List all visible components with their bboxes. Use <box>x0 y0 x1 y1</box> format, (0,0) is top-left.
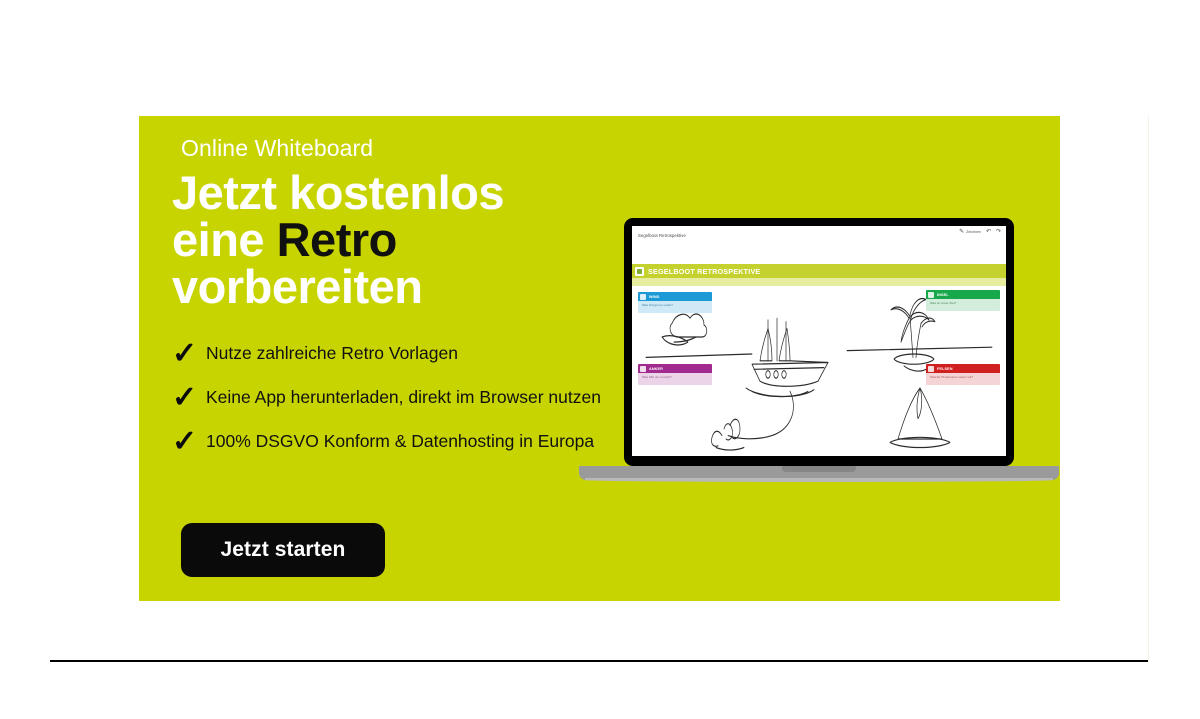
app-topbar: Segelboot Retrospektive ✎ Zeichnen ↶ ↷ <box>632 226 1006 244</box>
board-title: SEGELBOOT RETROSPEKTIVE <box>648 267 760 276</box>
hero-banner: Online Whiteboard Jetzt kostenlos eine R… <box>139 116 1060 601</box>
list-item: ✓ Keine App herunterladen, direkt im Bro… <box>172 383 632 411</box>
note-header: INSEL <box>926 290 1000 299</box>
note-card-wind[interactable]: WIND Was bringt uns voran? <box>638 292 712 313</box>
headline-line-2-emphasis: Retro <box>277 213 397 266</box>
anchor-icon <box>640 366 646 372</box>
laptop-screen: Segelboot Retrospektive ✎ Zeichnen ↶ ↷ <box>632 226 1006 456</box>
note-header: ANKER <box>638 364 712 373</box>
board-icon <box>635 267 644 276</box>
check-icon: ✓ <box>172 385 206 411</box>
content-bottom-rule <box>50 660 1148 662</box>
headline-line-2-prefix: eine <box>172 213 277 266</box>
note-title: FELSEN <box>937 367 953 371</box>
note-card-anchor[interactable]: ANKER Was hält uns zurück? <box>638 364 712 385</box>
island-icon <box>928 292 934 298</box>
hero-text-block: Online Whiteboard Jetzt kostenlos eine R… <box>172 135 642 310</box>
feature-text: 100% DSGVO Konform & Datenhosting in Eur… <box>206 427 594 452</box>
note-body: Was ist unser Ziel? <box>926 299 1000 311</box>
pen-tool-button[interactable]: ✎ Zeichnen <box>959 229 981 235</box>
laptop-mockup: Segelboot Retrospektive ✎ Zeichnen ↶ ↷ <box>579 216 1059 601</box>
undo-icon[interactable]: ↶ <box>986 229 991 235</box>
wind-icon <box>640 294 646 300</box>
note-header: FELSEN <box>926 364 1000 373</box>
note-body: Was hält uns zurück? <box>638 373 712 385</box>
check-icon: ✓ <box>172 341 206 367</box>
start-now-button[interactable]: Jetzt starten <box>181 523 385 577</box>
pen-tool-label: Zeichnen <box>966 230 981 234</box>
note-card-island[interactable]: INSEL Was ist unser Ziel? <box>926 290 1000 311</box>
feature-text: Keine App herunterladen, direkt im Brows… <box>206 383 601 408</box>
headline-line-1: Jetzt kostenlos <box>172 166 504 219</box>
app-title: Segelboot Retrospektive <box>638 233 686 238</box>
note-title: ANKER <box>649 367 663 371</box>
note-card-rock[interactable]: FELSEN Welche Hindernisse sehen wir? <box>926 364 1000 385</box>
board-canvas[interactable]: WIND Was bringt uns voran? INSEL Was ist… <box>632 286 1006 456</box>
feature-list: ✓ Nutze zahlreiche Retro Vorlagen ✓ Kein… <box>172 339 632 455</box>
check-icon: ✓ <box>172 429 206 455</box>
note-body: Welche Hindernisse sehen wir? <box>926 373 1000 385</box>
feature-text: Nutze zahlreiche Retro Vorlagen <box>206 339 458 364</box>
headline-line-3: vorbereiten <box>172 260 422 313</box>
redo-icon[interactable]: ↷ <box>996 229 1001 235</box>
list-item: ✓ 100% DSGVO Konform & Datenhosting in E… <box>172 427 632 455</box>
content-right-rule <box>1148 116 1149 662</box>
laptop-notch <box>782 466 856 472</box>
page-frame: Online Whiteboard Jetzt kostenlos eine R… <box>0 0 1200 719</box>
pen-icon: ✎ <box>959 229 964 235</box>
note-body: Was bringt uns voran? <box>638 301 712 313</box>
list-item: ✓ Nutze zahlreiche Retro Vorlagen <box>172 339 632 367</box>
note-title: INSEL <box>937 293 949 297</box>
hero-eyebrow: Online Whiteboard <box>181 135 642 163</box>
board-subtitle-bar: Erstelle eine Retrospektive in 4 Schritt… <box>632 278 1006 286</box>
note-header: WIND <box>638 292 712 301</box>
rock-icon <box>928 366 934 372</box>
page-title: Jetzt kostenlos eine Retro vorbereiten <box>172 169 642 310</box>
app-toolbar: ✎ Zeichnen ↶ ↷ <box>959 229 1001 235</box>
board-banner: SEGELBOOT RETROSPEKTIVE <box>632 264 1006 278</box>
laptop-base-shadow <box>585 478 1053 482</box>
laptop-lid: Segelboot Retrospektive ✎ Zeichnen ↶ ↷ <box>624 218 1014 466</box>
note-title: WIND <box>649 295 660 299</box>
